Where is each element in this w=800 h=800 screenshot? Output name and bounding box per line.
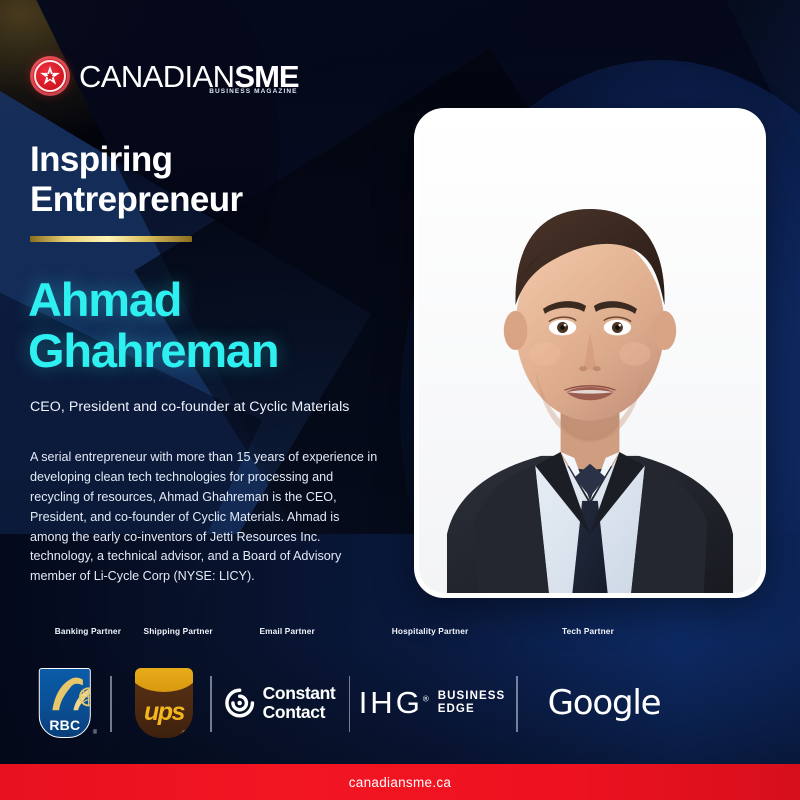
headline-line-1: Inspiring [30, 140, 243, 180]
partner-logos-row: RBC ® ups ® [0, 666, 800, 740]
brand-wordmark-text: CANADIANSME [79, 61, 299, 92]
brand-wordmark: CANADIANSME BUSINESS MAGAZINE [79, 61, 299, 92]
partner-label-banking: Banking Partner [55, 626, 121, 636]
rbc-emblem-icon [45, 674, 91, 714]
ups-registered-mark: ® [182, 731, 186, 737]
footer-bar: canadiansme.ca [0, 764, 800, 800]
cc-line-1: Constant [263, 684, 336, 703]
brand-logo[interactable]: CANADIANSME BUSINESS MAGAZINE [30, 56, 299, 96]
rbc-wordmark: RBC [49, 717, 80, 733]
ihg-sub-line-2: EDGE [438, 703, 506, 716]
ups-shield-logo: ups ® [135, 668, 193, 738]
person-job-title: CEO, President and co-founder at Cyclic … [30, 399, 349, 415]
partner-label-tech: Tech Partner [562, 626, 614, 636]
ihg-registered-mark: ® [423, 695, 429, 704]
rbc-shield-logo: RBC ® [39, 668, 97, 738]
ihg-subtitle: BUSINESS EDGE [438, 690, 506, 716]
person-first-name: Ahmad [28, 275, 278, 326]
brand-tagline: BUSINESS MAGAZINE [209, 89, 297, 96]
partner-label-email: Email Partner [259, 626, 314, 636]
partner-divider-4 [516, 676, 518, 732]
partner-logo-constant-contact[interactable]: Constant Contact [225, 666, 336, 740]
partner-divider-3 [349, 676, 351, 732]
partner-label-hospitality: Hospitality Partner [392, 626, 469, 636]
ihg-mark-text: IHG [359, 685, 423, 720]
ihg-sub-line-1: BUSINESS [438, 690, 506, 703]
headline-line-2: Entrepreneur [30, 180, 243, 220]
partner-logo-rbc[interactable]: RBC ® [39, 666, 97, 740]
poster-canvas: CANADIANSME BUSINESS MAGAZINE Inspiring … [0, 0, 800, 800]
rbc-registered-mark: ® [93, 730, 97, 736]
partners-section: Banking Partner Shipping Partner Email P… [0, 626, 800, 740]
portrait-card [414, 108, 766, 598]
partner-logo-google[interactable]: Google [548, 666, 661, 740]
person-name: Ahmad Ghahreman [28, 275, 278, 377]
google-wordmark: Google [548, 683, 661, 723]
maple-leaf-star-badge-icon [30, 56, 70, 96]
ups-gold-arc [135, 668, 193, 692]
page-title: Inspiring Entrepreneur [30, 140, 243, 219]
constant-contact-spiral-icon [225, 688, 255, 718]
constant-contact-logo: Constant Contact [225, 684, 336, 721]
portrait-photo [419, 113, 761, 593]
ihg-wordmark: IHG® [359, 685, 429, 721]
cc-line-2: Contact [263, 703, 336, 722]
partner-logo-ups[interactable]: ups ® [135, 666, 193, 740]
partner-labels-row: Banking Partner Shipping Partner Email P… [24, 626, 776, 640]
person-biography: A serial entrepreneur with more than 15 … [30, 448, 380, 587]
partner-label-shipping: Shipping Partner [144, 626, 213, 636]
ups-wordmark: ups [144, 700, 184, 725]
partner-logo-ihg[interactable]: IHG® BUSINESS EDGE [359, 666, 506, 740]
partner-divider-2 [210, 676, 212, 732]
constant-contact-wordmark: Constant Contact [263, 684, 336, 721]
partner-divider-1 [110, 676, 112, 732]
footer-website-url[interactable]: canadiansme.ca [349, 775, 452, 790]
person-last-name: Ghahreman [28, 326, 278, 377]
rbc-shield-shape: RBC [39, 668, 91, 738]
ihg-business-edge-logo: IHG® BUSINESS EDGE [359, 685, 506, 721]
gold-divider-rule [30, 236, 192, 242]
